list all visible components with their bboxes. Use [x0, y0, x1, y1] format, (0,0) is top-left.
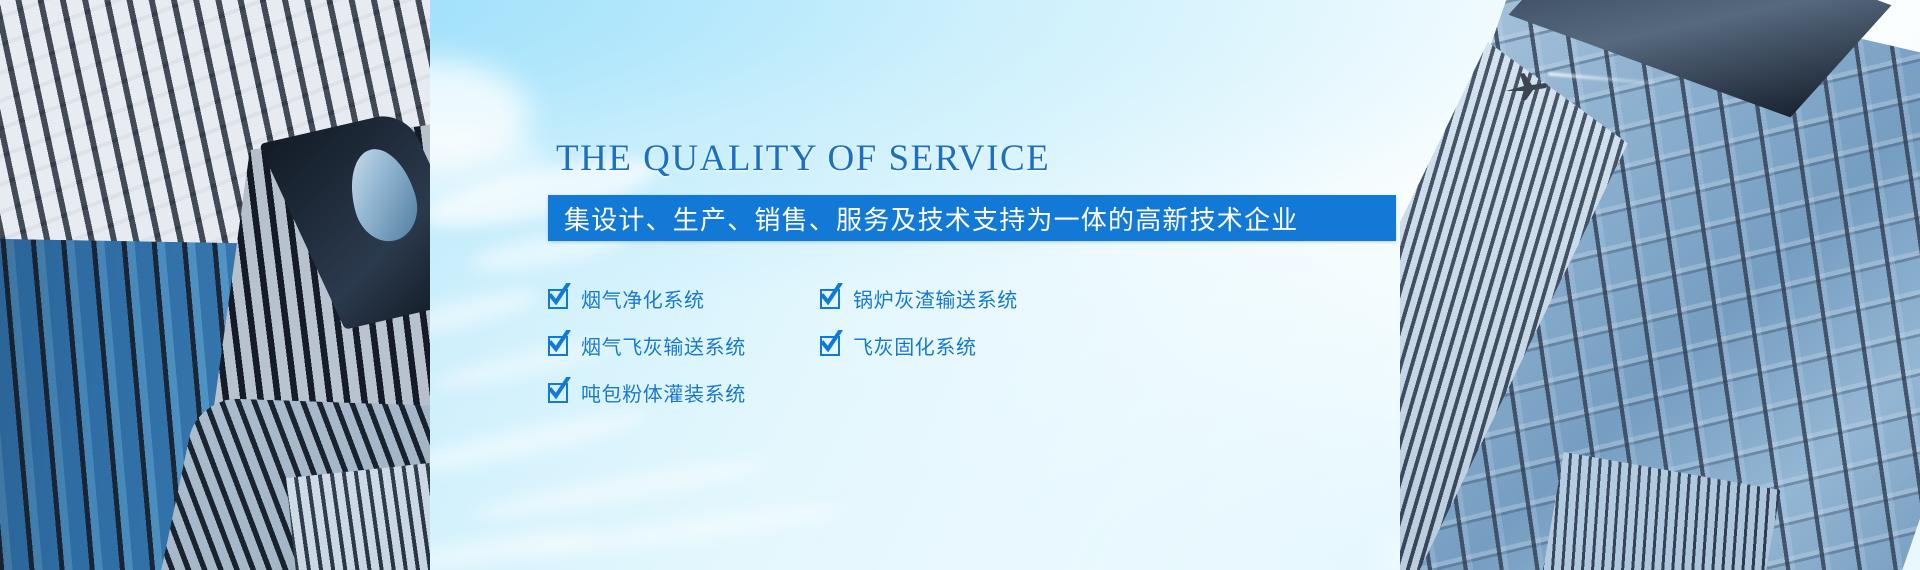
list-item[interactable]: 锅炉灰渣输送系统 [820, 275, 1160, 322]
headline-text: 集设计、生产、销售、服务及技术支持为一体的高新技术企业 [548, 200, 1298, 237]
feature-column-left: 烟气净化系统 烟气飞灰输送系统 吨包粉体灌装系统 [548, 275, 820, 416]
headline-bar: 集设计、生产、销售、服务及技术支持为一体的高新技术企业 [548, 195, 1396, 241]
list-item[interactable]: 吨包粉体灌装系统 [548, 369, 820, 416]
checkbox-checked-icon [548, 289, 568, 309]
list-item-label: 锅炉灰渣输送系统 [853, 284, 1018, 313]
list-item-label: 吨包粉体灌装系统 [581, 378, 746, 407]
skyscraper-icon [0, 0, 430, 570]
airplane-icon [1504, 72, 1550, 102]
page-title: THE QUALITY OF SERVICE [556, 140, 1408, 177]
list-item[interactable]: 烟气飞灰输送系统 [548, 322, 820, 369]
glass-tower-icon [1400, 0, 1920, 570]
checkbox-checked-icon [820, 336, 840, 356]
checkbox-checked-icon [548, 383, 568, 403]
feature-column-right: 锅炉灰渣输送系统 飞灰固化系统 [820, 275, 1160, 416]
hero-banner: THE QUALITY OF SERVICE 集设计、生产、销售、服务及技术支持… [0, 0, 1920, 570]
checkbox-checked-icon [548, 336, 568, 356]
list-item[interactable]: 烟气净化系统 [548, 275, 820, 322]
checkbox-checked-icon [820, 289, 840, 309]
banner-content: THE QUALITY OF SERVICE 集设计、生产、销售、服务及技术支持… [548, 140, 1408, 416]
list-item-label: 烟气飞灰输送系统 [581, 331, 746, 360]
list-item[interactable]: 飞灰固化系统 [820, 322, 1160, 369]
list-item-label: 飞灰固化系统 [853, 331, 977, 360]
feature-list: 烟气净化系统 烟气飞灰输送系统 吨包粉体灌装系统 [548, 275, 1388, 416]
list-item-label: 烟气净化系统 [581, 284, 705, 313]
